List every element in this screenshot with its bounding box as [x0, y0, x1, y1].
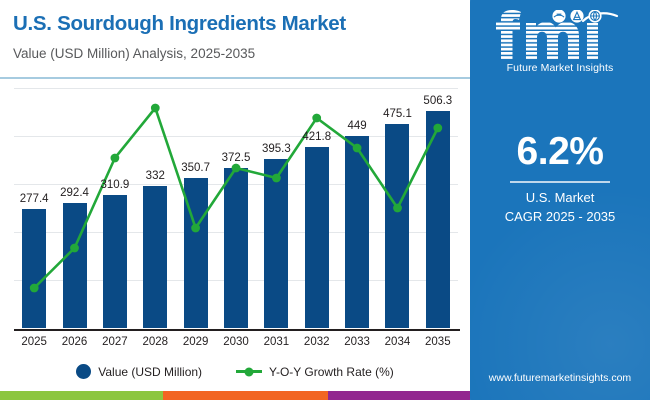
chart-pane: U.S. Sourdough Ingredients Market Value … — [0, 0, 470, 400]
x-axis-tick-label: 2029 — [183, 336, 209, 348]
x-axis-tick-label: 2031 — [264, 336, 290, 348]
cagr-value: 6.2% — [470, 130, 650, 174]
growth-rate-line — [14, 88, 458, 328]
growth-rate-point[interactable] — [232, 164, 241, 173]
fmi-logo-icon — [495, 10, 625, 62]
info-panel: Future Market Insights 6.2% U.S. Market … — [470, 0, 650, 400]
legend-item-growth-rate[interactable]: Y-O-Y Growth Rate (%) — [236, 365, 394, 379]
bar-value-label: 292.4 — [60, 187, 89, 199]
legend-item-label: Value (USD Million) — [98, 365, 202, 379]
growth-rate-polyline — [34, 108, 438, 288]
x-axis-tick-label: 2026 — [62, 336, 88, 348]
x-axis-tick-label: 2027 — [102, 336, 128, 348]
bar-value-label: 395.3 — [262, 143, 291, 155]
x-axis-tick-label: 2028 — [142, 336, 168, 348]
page-title: U.S. Sourdough Ingredients Market — [13, 12, 346, 36]
growth-rate-point[interactable] — [151, 104, 160, 113]
growth-rate-point[interactable] — [353, 144, 362, 153]
legend-item-label: Y-O-Y Growth Rate (%) — [269, 365, 394, 379]
x-axis-tick-label: 2032 — [304, 336, 330, 348]
legend-value-marker-icon — [76, 364, 91, 379]
bar-value-label: 332 — [146, 170, 165, 182]
x-axis-baseline — [14, 329, 460, 331]
strip-segment — [163, 391, 328, 400]
growth-rate-point[interactable] — [433, 124, 442, 133]
x-axis-tick-label: 2030 — [223, 336, 249, 348]
bar-value-label: 506.3 — [423, 95, 452, 107]
bar-value-label: 277.4 — [20, 193, 49, 205]
growth-rate-point[interactable] — [111, 154, 120, 163]
growth-rate-point[interactable] — [30, 284, 39, 293]
growth-rate-point[interactable] — [312, 114, 321, 123]
cagr-divider — [510, 181, 610, 183]
fmi-logo-tagline: Future Market Insights — [470, 62, 650, 74]
x-axis-tick-label: 2033 — [344, 336, 370, 348]
website-url: www.futuremarketinsights.com — [470, 372, 650, 384]
page-subtitle: Value (USD Million) Analysis, 2025-2035 — [13, 46, 255, 61]
bar-value-label: 372.5 — [222, 152, 251, 164]
growth-rate-point[interactable] — [191, 224, 200, 233]
chart-screenshot: U.S. Sourdough Ingredients Market Value … — [0, 0, 650, 400]
cagr-market-label: U.S. Market — [470, 190, 650, 205]
bar-value-label: 449 — [347, 120, 366, 132]
legend-item-value[interactable]: Value (USD Million) — [76, 364, 202, 379]
bar-value-label: 310.9 — [101, 179, 130, 191]
strip-segment — [0, 391, 163, 400]
growth-rate-point[interactable] — [70, 244, 79, 253]
legend-growth-marker-icon — [236, 370, 262, 373]
x-axis-tick-label: 2035 — [425, 336, 451, 348]
growth-rate-point[interactable] — [272, 174, 281, 183]
bar-value-label: 421.8 — [302, 131, 331, 143]
chart-legend: Value (USD Million) Y-O-Y Growth Rate (%… — [0, 364, 470, 379]
x-axis-tick-label: 2034 — [385, 336, 411, 348]
cagr-period-label: CAGR 2025 - 2035 — [470, 209, 650, 224]
strip-segment — [328, 391, 470, 400]
bar-value-label: 350.7 — [181, 162, 210, 174]
x-axis-tick-label: 2025 — [21, 336, 47, 348]
bar-value-label: 475.1 — [383, 108, 412, 120]
fmi-logo: Future Market Insights — [470, 10, 650, 72]
growth-rate-point[interactable] — [393, 204, 402, 213]
header-divider — [0, 77, 470, 79]
